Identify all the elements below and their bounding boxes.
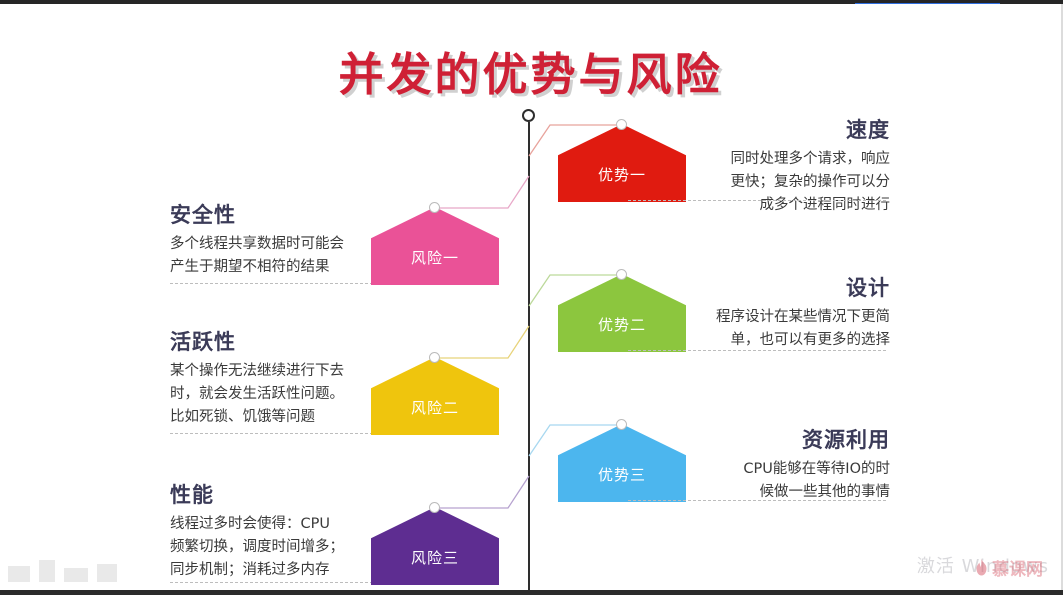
risk-badge-3-label: 风险三 — [371, 547, 499, 568]
risk-item-1-heading: 安全性 — [170, 199, 430, 229]
slide-canvas: 并发的优势与风险 安全性 多个线程共享数据时可能会 产生于期望不相符的结果 — [0, 4, 1061, 590]
brand-watermark: 慕课网 — [974, 555, 1043, 580]
risk-item-3-heading: 性能 — [170, 479, 430, 509]
advantage-item-1-text: 速度 同时处理多个请求，响应 更快；复杂的操作可以分 成多个进程同时进行 — [630, 114, 890, 217]
advantage-item-2-heading: 设计 — [630, 272, 890, 302]
risk-badge-1-apex-dot — [429, 202, 440, 213]
slide-thumbnail-ghosts — [8, 560, 117, 582]
advantage-item-3-rule — [628, 500, 886, 501]
advantage-badge-1-apex-dot — [616, 119, 627, 130]
advantage-badge-3-apex-dot — [616, 419, 627, 430]
advantage-item-1-line-2: 更快；复杂的操作可以分 — [630, 171, 890, 194]
advantage-badge-2-apex-dot — [616, 269, 627, 280]
advantage-item-2-line-1: 程序设计在某些情况下更简 — [630, 306, 890, 329]
brand-name-label: 慕课网 — [992, 555, 1043, 580]
connector-lines — [0, 4, 1061, 590]
risk-badge-1-label: 风险一 — [371, 247, 499, 268]
flame-icon — [974, 559, 989, 576]
screen: 拖拽上传 并发的优势与风险 安全性 多个线程共享数据时可能会 产生于期望不相符 — [0, 0, 1063, 595]
risk-badge-2-label: 风险二 — [371, 397, 499, 418]
advantage-item-2-line-2: 单，也可以有更多的选择 — [630, 329, 890, 352]
advantage-item-1-heading: 速度 — [630, 114, 890, 144]
advantage-item-1-line-1: 同时处理多个请求，响应 — [630, 148, 890, 171]
advantage-item-3-heading: 资源利用 — [630, 424, 890, 454]
advantage-item-2-text: 设计 程序设计在某些情况下更简 单，也可以有更多的选择 — [630, 272, 890, 352]
advantage-item-2-rule — [628, 350, 886, 351]
risk-item-2-heading: 活跃性 — [170, 326, 430, 356]
risk-badge-3-apex-dot — [429, 502, 440, 513]
advantage-item-1-line-3: 成多个进程同时进行 — [630, 194, 890, 217]
advantage-item-1-rule — [628, 200, 886, 201]
advantage-item-3-text: 资源利用 CPU能够在等待IO的时 候做一些其他的事情 — [630, 424, 890, 504]
risk-badge-2-apex-dot — [429, 352, 440, 363]
advantage-item-3-line-1: CPU能够在等待IO的时 — [630, 458, 890, 481]
browser-bottom-bar — [0, 590, 1063, 595]
